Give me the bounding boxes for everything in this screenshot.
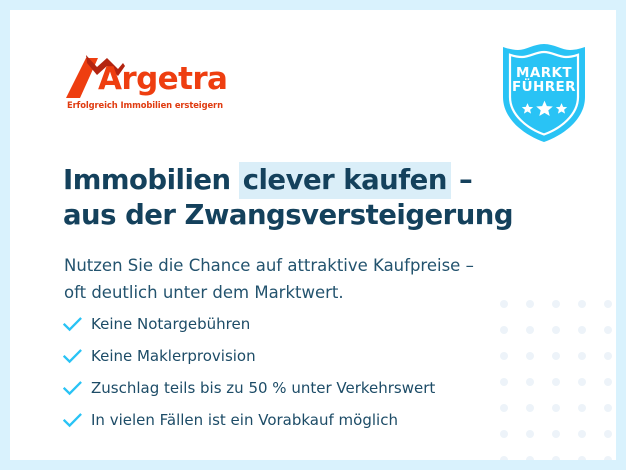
list-item-label: Keine Maklerprovision: [91, 349, 256, 364]
dot: [604, 300, 612, 308]
headline-highlight: clever kaufen: [239, 162, 451, 199]
check-icon: [63, 349, 91, 364]
list-item: In vielen Fällen ist ein Vorabkauf mögli…: [63, 404, 533, 436]
headline-prefix: Immobilien: [63, 164, 240, 196]
list-item-label: Zuschlag teils bis zu 50 % unter Verkehr…: [91, 381, 435, 396]
argetra-logo[interactable]: Argetra Erfolgreich Immobilien ersteiger…: [66, 52, 216, 114]
dot-row: [496, 456, 616, 460]
dot: [604, 378, 612, 386]
logo-wordmark: Argetra: [98, 64, 227, 95]
dot: [552, 430, 560, 438]
dot: [604, 326, 612, 334]
check-icon: [63, 381, 91, 396]
subheading-line-1: Nutzen Sie die Chance auf attraktive Kau…: [64, 256, 474, 275]
dot: [552, 378, 560, 386]
dot: [578, 352, 586, 360]
dot: [604, 404, 612, 412]
dot: [578, 300, 586, 308]
headline-line-2: aus der Zwangsversteigerung: [63, 198, 543, 233]
market-leader-badge: MARKT FÜHRER: [498, 43, 590, 143]
dot: [552, 456, 560, 460]
shield-badge-icon: [498, 130, 590, 147]
logo-tagline: Erfolgreich Immobilien ersteigern: [67, 100, 223, 110]
dot: [578, 430, 586, 438]
dot: [578, 456, 586, 460]
list-item: Zuschlag teils bis zu 50 % unter Verkehr…: [63, 372, 533, 404]
promo-card: Argetra Erfolgreich Immobilien ersteiger…: [10, 10, 616, 460]
dot: [552, 326, 560, 334]
list-item: Keine Notargebühren: [63, 308, 533, 340]
dot: [604, 456, 612, 460]
page-title: Immobilien clever kaufen – aus der Zwang…: [63, 163, 543, 233]
dot: [552, 352, 560, 360]
dot: [500, 456, 508, 460]
dot: [604, 352, 612, 360]
dot: [604, 430, 612, 438]
list-item: Keine Maklerprovision: [63, 340, 533, 372]
dot: [526, 456, 534, 460]
benefits-checklist: Keine NotargebührenKeine Maklerprovision…: [63, 308, 533, 436]
subheading: Nutzen Sie die Chance auf attraktive Kau…: [64, 252, 564, 306]
promo-card-frame: Argetra Erfolgreich Immobilien ersteiger…: [0, 0, 626, 470]
list-item-label: Keine Notargebühren: [91, 317, 250, 332]
dot: [578, 326, 586, 334]
subheading-line-2: oft deutlich unter dem Marktwert.: [64, 283, 344, 302]
list-item-label: In vielen Fällen ist ein Vorabkauf mögli…: [91, 413, 398, 428]
dot: [552, 404, 560, 412]
headline-suffix: –: [450, 164, 472, 196]
headline-line-1: Immobilien clever kaufen –: [63, 163, 543, 198]
check-icon: [63, 413, 91, 428]
check-icon: [63, 317, 91, 332]
dot: [578, 378, 586, 386]
dot: [578, 404, 586, 412]
